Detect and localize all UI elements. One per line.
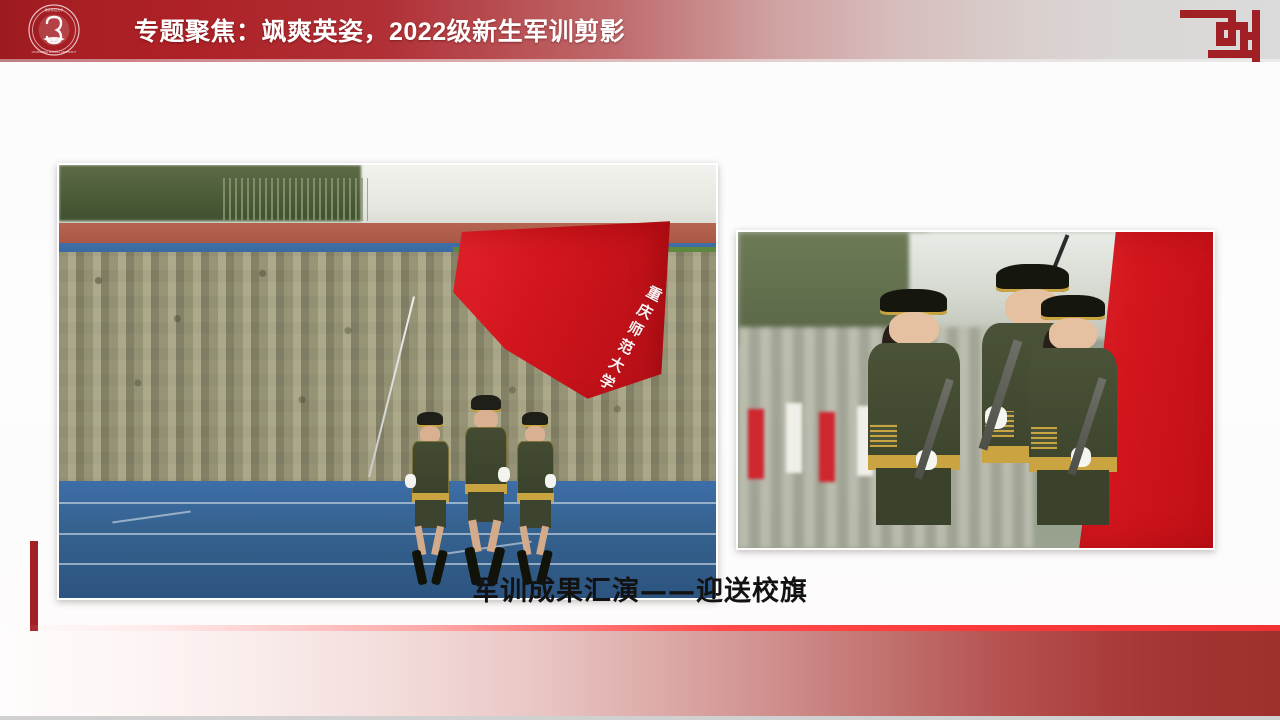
honor-guard-member-female-right xyxy=(1023,295,1123,548)
honor-guard-member xyxy=(460,395,513,586)
track-mark xyxy=(112,511,190,524)
university-seal-logo: 重庆师范大学 CHONGQING NORMAL UNIVERSITY xyxy=(22,3,86,57)
track-lane-line xyxy=(59,563,716,565)
photo-caption: 军训成果汇演——迎送校旗 xyxy=(0,566,1280,610)
photo-honor-guard-closeup[interactable]: 护旗手持枪特写，红旗迎风 xyxy=(736,230,1215,550)
page-title: 专题聚焦：飒爽英姿，2022级新生军训剪影 xyxy=(134,0,625,59)
small-red-banner xyxy=(748,409,764,479)
bottom-decorative-band xyxy=(0,625,1280,720)
fence-railing xyxy=(223,178,368,221)
photo-right-canvas xyxy=(738,232,1213,548)
honor-guard-member xyxy=(407,412,453,585)
slide-content-area: 重庆师范大学 xyxy=(0,62,1280,625)
bottom-band-gradient-fill xyxy=(0,631,1280,720)
slide-header-bar: 重庆师范大学 CHONGQING NORMAL UNIVERSITY 专题聚焦：… xyxy=(0,0,1280,59)
slide-root: 重庆师范大学 CHONGQING NORMAL UNIVERSITY 专题聚焦：… xyxy=(0,0,1280,720)
track-lane-line xyxy=(59,502,716,504)
small-red-banner xyxy=(819,412,835,482)
bottom-band-edge-line xyxy=(0,716,1280,720)
honor-guard-member xyxy=(512,412,558,585)
photo-military-training-flag-parade[interactable]: 重庆师范大学 xyxy=(57,163,718,600)
honor-guard-member-female-left xyxy=(862,289,967,548)
track-lane-line xyxy=(59,533,716,535)
small-white-banner xyxy=(786,403,802,473)
photo-left-canvas: 重庆师范大学 xyxy=(59,165,716,598)
svg-text:重庆师范大学: 重庆师范大学 xyxy=(45,7,64,12)
svg-text:CHONGQING NORMAL UNIVERSITY: CHONGQING NORMAL UNIVERSITY xyxy=(32,50,77,54)
